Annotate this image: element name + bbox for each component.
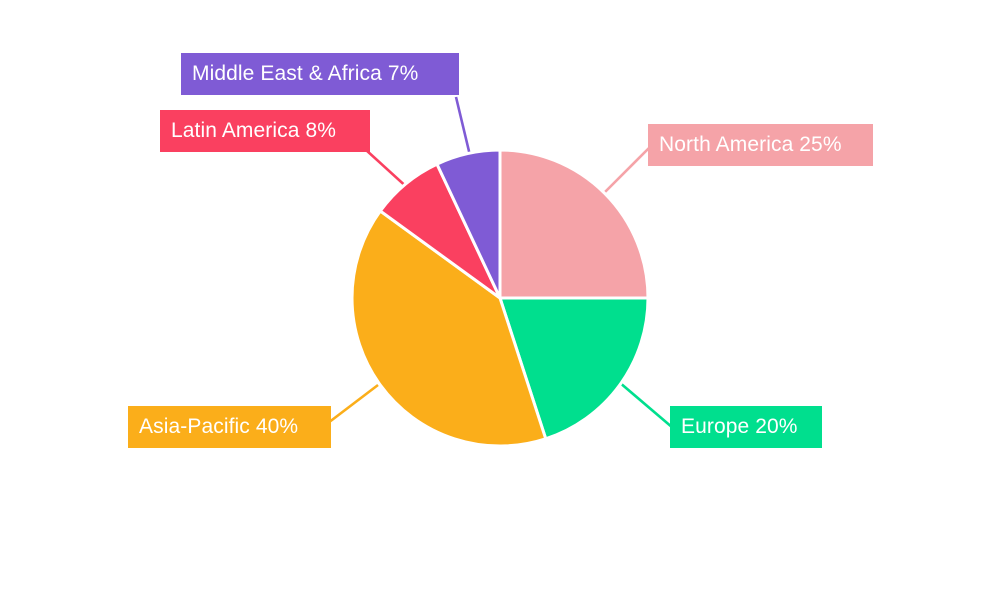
slice-label-middle-east-africa[interactable]: Middle East & Africa 7% <box>181 53 459 95</box>
leader-line-north-america <box>605 146 651 192</box>
leader-line-asia-pacific <box>328 385 378 423</box>
slice-label-europe[interactable]: Europe 20% <box>670 406 822 448</box>
slice-label-asia-pacific[interactable]: Asia-Pacific 40% <box>128 406 331 448</box>
pie-chart-canvas <box>0 0 1000 600</box>
pie-chart-figure: North America 25%Europe 20%Asia-Pacific … <box>0 0 1000 600</box>
pie-slice-group <box>352 150 648 446</box>
leader-line-europe <box>619 382 673 428</box>
slice-label-latin-america[interactable]: Latin America 8% <box>160 110 370 152</box>
slice-label-north-america[interactable]: North America 25% <box>648 124 873 166</box>
